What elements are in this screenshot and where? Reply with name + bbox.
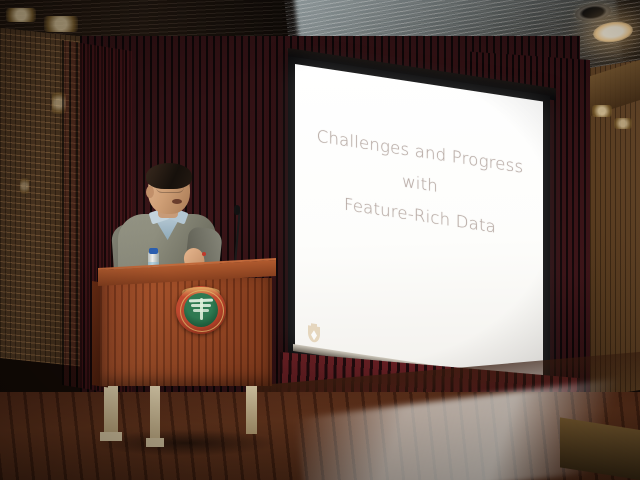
- crest-pine-stem: [200, 298, 203, 320]
- speaker-mouth: [172, 199, 182, 204]
- stage-light-left-d-icon: [20, 178, 29, 194]
- microphone-icon: [234, 205, 240, 215]
- presentation-photo: Challenges and Progress with Feature-Ric…: [0, 0, 640, 480]
- stage-light-left-b-icon: [44, 16, 78, 32]
- podium-leg-center: [150, 380, 160, 444]
- stage-light-right-b-icon: [614, 118, 632, 129]
- speaker-glasses-icon: [156, 184, 184, 193]
- speaker-lapel-pin: [202, 252, 206, 256]
- shield-logo-icon: [306, 322, 322, 344]
- speaker-ear: [146, 186, 154, 198]
- podium-foot-center: [146, 438, 164, 447]
- stage-light-left-a-icon: [6, 8, 36, 22]
- water-bottle-cap: [149, 248, 158, 254]
- podium-leg-left: [104, 380, 118, 438]
- podium-foot-left: [100, 432, 122, 441]
- podium-leg-right: [246, 378, 257, 434]
- stage-light-right-a-icon: [592, 105, 612, 117]
